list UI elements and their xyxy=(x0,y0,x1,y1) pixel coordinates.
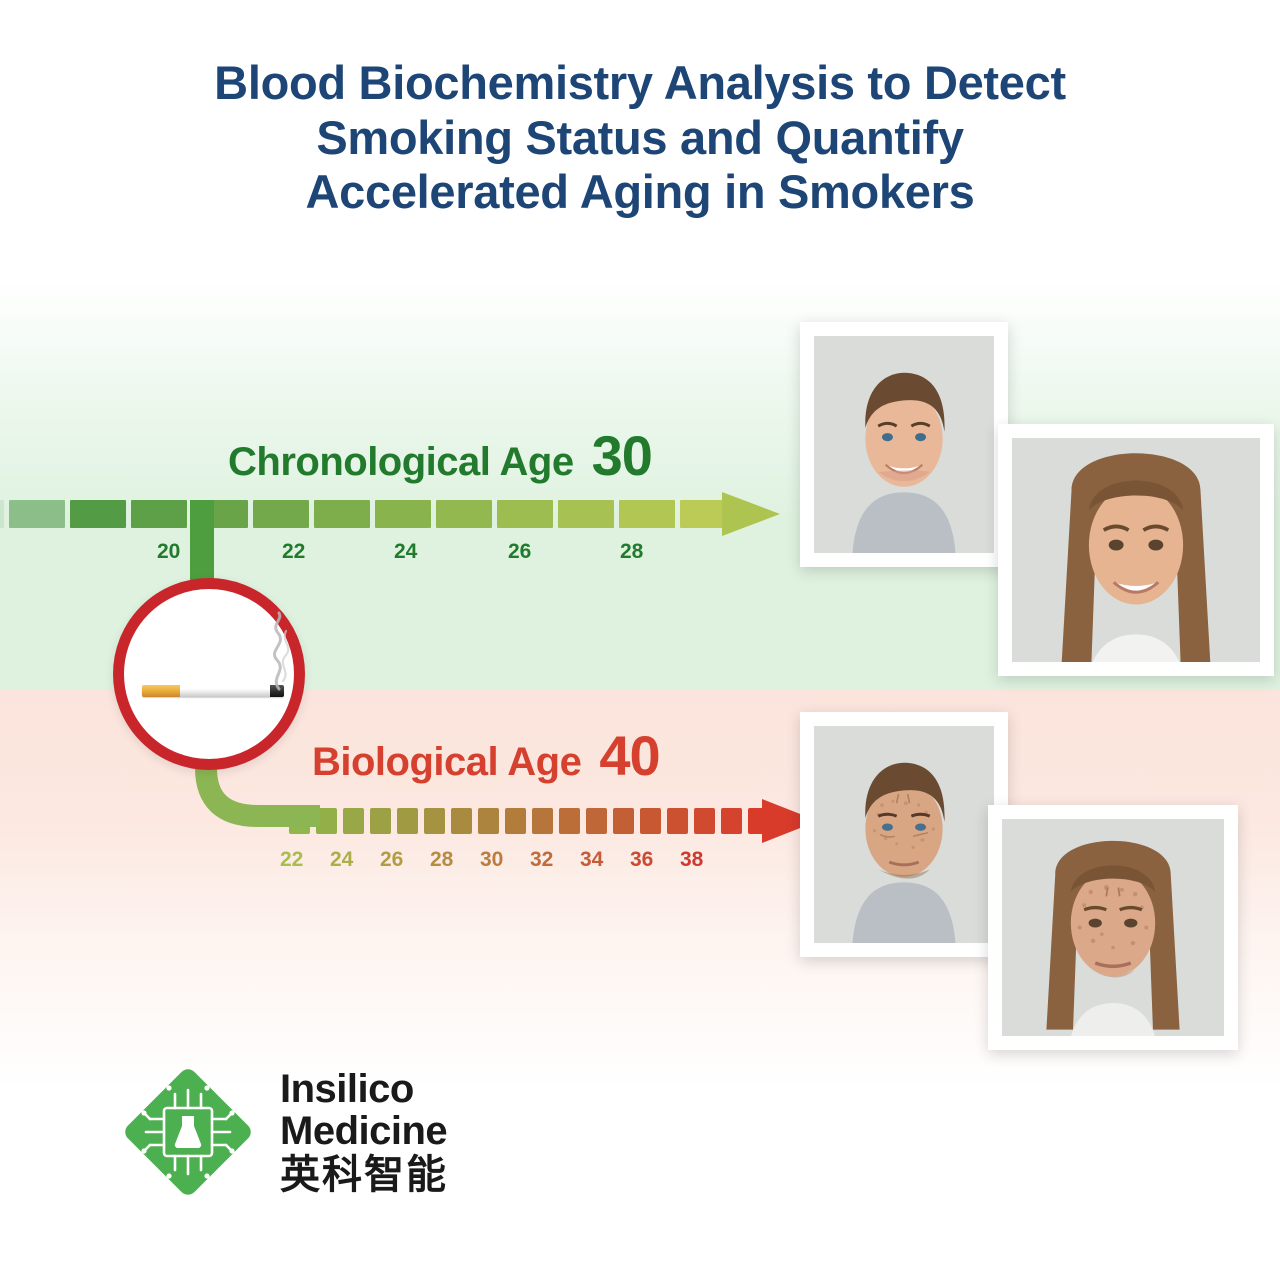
insilico-diamond-chip-icon xyxy=(118,1062,258,1202)
photo-male-young xyxy=(814,336,994,553)
chronological-segment xyxy=(253,500,309,528)
photo-female-aged xyxy=(1002,819,1224,1036)
biological-tick: 28 xyxy=(430,848,453,872)
title-line-1: Blood Biochemistry Analysis to Detect xyxy=(0,56,1280,111)
biological-tick-labels: 222426283032343638 xyxy=(262,848,822,878)
biological-segment xyxy=(640,808,661,834)
biological-segment xyxy=(505,808,526,834)
chronological-age-value: 30 xyxy=(592,423,652,488)
biological-tick: 30 xyxy=(480,848,503,872)
chronological-segment xyxy=(558,500,614,528)
biological-segment xyxy=(397,808,418,834)
smoking-status-icon-circle[interactable] xyxy=(113,578,305,770)
photo-frame-male-aged xyxy=(800,712,1008,957)
biological-segment xyxy=(451,808,472,834)
biological-segment xyxy=(586,808,607,834)
biological-segment xyxy=(424,808,445,834)
biological-segment xyxy=(559,808,580,834)
photo-male-aged xyxy=(814,726,994,943)
chronological-tick: 20 xyxy=(157,540,180,564)
chronological-segment xyxy=(70,500,126,528)
branch-stub-down xyxy=(190,500,214,590)
chronological-segment xyxy=(497,500,553,528)
photo-frame-female-young xyxy=(998,424,1274,676)
chronological-segment xyxy=(436,500,492,528)
chronological-tick: 26 xyxy=(508,540,531,564)
biological-segment xyxy=(343,808,364,834)
chronological-age-track xyxy=(0,500,800,532)
photo-frame-female-aged xyxy=(988,805,1238,1050)
chronological-age-text: Chronological Age xyxy=(228,440,574,485)
biological-segment xyxy=(694,808,715,834)
chronological-age-label: Chronological Age 30 xyxy=(228,423,652,488)
chronological-segment xyxy=(0,500,4,528)
brand-logo-text: Insilico Medicine 英科智能 xyxy=(280,1068,448,1196)
biological-segment xyxy=(532,808,553,834)
biological-age-track xyxy=(262,808,822,842)
cigarette-filter xyxy=(142,685,180,697)
chronological-tick: 22 xyxy=(282,540,305,564)
brand-name-chinese: 英科智能 xyxy=(280,1154,448,1196)
chronological-tick: 28 xyxy=(620,540,643,564)
infographic-canvas: Blood Biochemistry Analysis to Detect Sm… xyxy=(0,0,1280,1280)
biological-age-text: Biological Age xyxy=(312,740,581,785)
biological-tick: 26 xyxy=(380,848,403,872)
chronological-segment xyxy=(619,500,675,528)
biological-tick: 36 xyxy=(630,848,653,872)
chronological-arrow-head xyxy=(722,492,780,536)
biological-segment xyxy=(613,808,634,834)
biological-segment xyxy=(370,808,391,834)
photo-female-young xyxy=(1012,438,1260,662)
title-line-2: Smoking Status and Quantify xyxy=(0,111,1280,166)
chronological-tick-labels: 2022242628 xyxy=(0,540,800,570)
title-line-3: Accelerated Aging in Smokers xyxy=(0,165,1280,220)
biological-tick: 24 xyxy=(330,848,353,872)
biological-segment xyxy=(667,808,688,834)
biological-segment xyxy=(721,808,742,834)
chronological-segment xyxy=(131,500,187,528)
brand-name-line-2: Medicine xyxy=(280,1110,448,1152)
chronological-segment xyxy=(314,500,370,528)
brand-logo: Insilico Medicine 英科智能 xyxy=(118,1062,448,1202)
biological-tick: 22 xyxy=(280,848,303,872)
chronological-tick: 24 xyxy=(394,540,417,564)
biological-age-value: 40 xyxy=(599,723,659,788)
biological-tick: 32 xyxy=(530,848,553,872)
chronological-segment xyxy=(9,500,65,528)
photo-frame-male-young xyxy=(800,322,1008,567)
biological-segment xyxy=(478,808,499,834)
biological-tick: 34 xyxy=(580,848,603,872)
biological-tick: 38 xyxy=(680,848,703,872)
chronological-segment xyxy=(375,500,431,528)
smoke-icon xyxy=(257,611,301,691)
biological-age-label: Biological Age 40 xyxy=(312,723,660,788)
page-title: Blood Biochemistry Analysis to Detect Sm… xyxy=(0,56,1280,220)
brand-name-line-1: Insilico xyxy=(280,1068,448,1110)
